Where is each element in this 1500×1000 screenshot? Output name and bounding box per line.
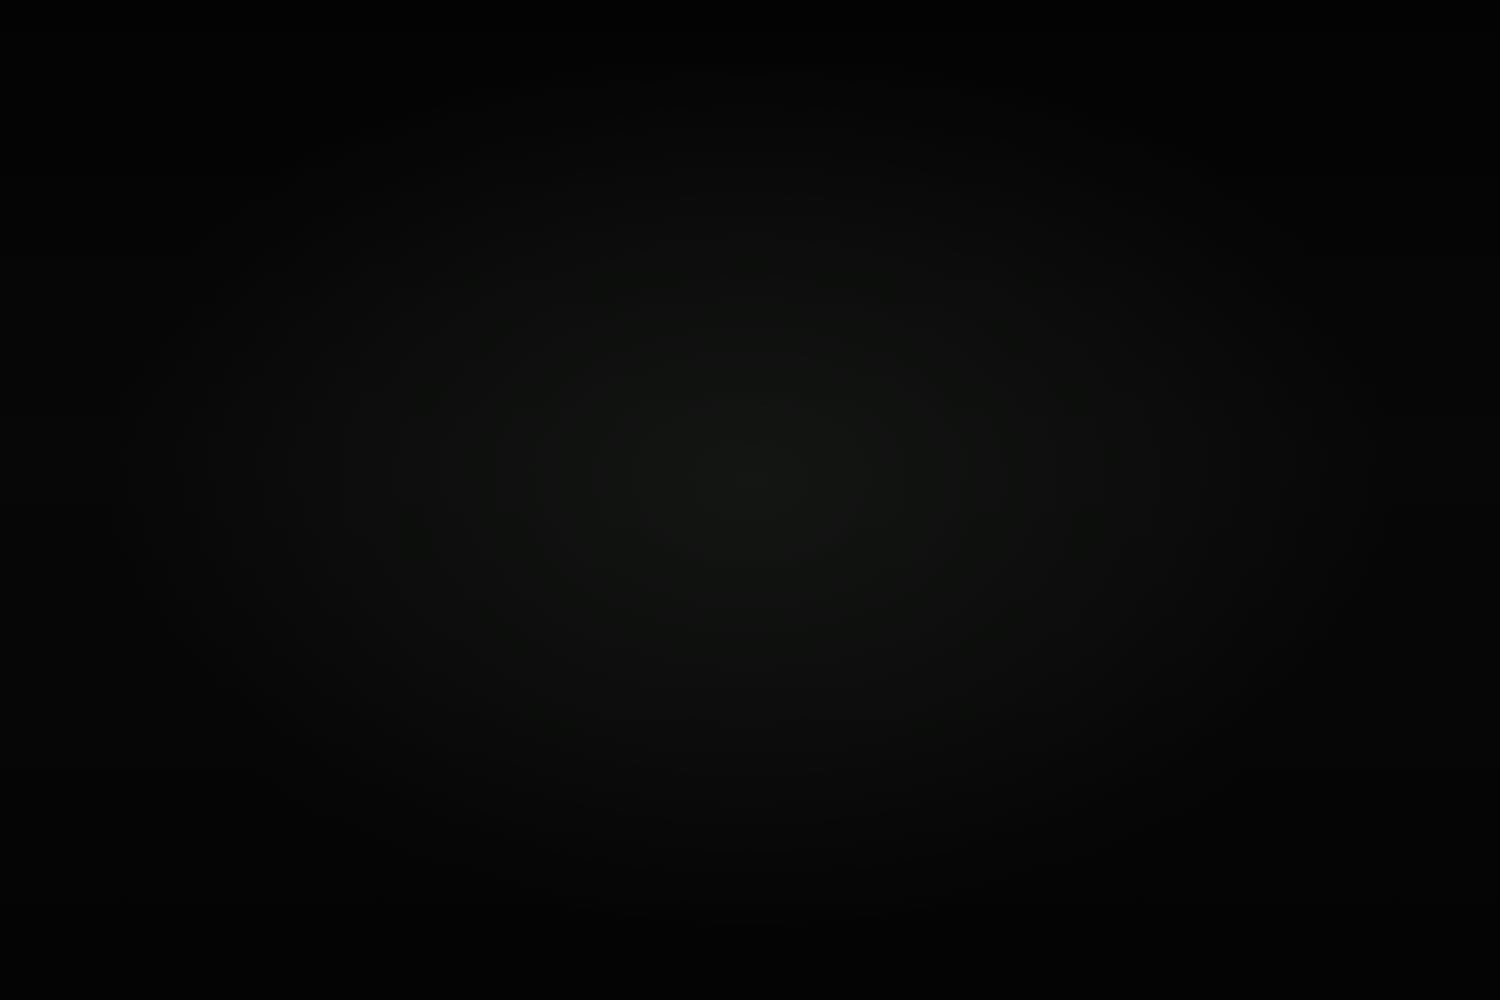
photo-person bbox=[1285, 385, 1320, 460]
right-arrow-icon bbox=[415, 635, 523, 700]
photo-person bbox=[1243, 704, 1290, 805]
photo-person-legs bbox=[1080, 799, 1125, 864]
photo-person bbox=[1132, 699, 1179, 804]
projection-scene: 각 남선교회별 활동현황 3남, 4남선교회 예배참여(격월) 혜정교회 풍성한… bbox=[0, 0, 1500, 1000]
indoor-church-group-photo: WITH US CHURCH bbox=[903, 499, 1398, 906]
outdoor-group-photo bbox=[908, 188, 1398, 505]
row-2-label: 선교사 지원 bbox=[139, 631, 337, 691]
right-arrow-icon bbox=[421, 412, 529, 477]
projected-slide: 각 남선교회별 활동현황 3남, 4남선교회 예배참여(격월) 혜정교회 풍성한… bbox=[114, 64, 1399, 934]
photo-white-table bbox=[903, 825, 987, 838]
photo-person-legs bbox=[1132, 799, 1179, 864]
row-2-target-2: 팔레스타인(강윤태) bbox=[535, 680, 860, 741]
photo-track-lamp bbox=[1131, 527, 1138, 536]
photo-person bbox=[1302, 704, 1349, 805]
slide-footer-line: 제주위더스교회 방문예배(김종우) bbox=[131, 792, 719, 859]
photo-fire-extinguisher bbox=[1371, 793, 1386, 829]
photo-track-lamp bbox=[1210, 526, 1217, 535]
slide-canvas: 각 남선교회별 활동현황 3남, 4남선교회 예배참여(격월) 혜정교회 풍성한… bbox=[114, 64, 1399, 934]
photo-person bbox=[1170, 383, 1212, 465]
row-1-label: 예배참여(격월) bbox=[140, 407, 391, 467]
photo-tree-trunk bbox=[1031, 220, 1042, 345]
photo-person bbox=[1075, 383, 1107, 458]
photo-person-legs bbox=[1189, 800, 1236, 865]
photo-person-legs bbox=[1302, 801, 1349, 866]
row-1-target-1: 혜정교회 bbox=[552, 394, 701, 453]
row-1-target-2: 풍성한교회 bbox=[552, 458, 738, 518]
photo-person bbox=[1189, 703, 1236, 804]
photo-person-legs bbox=[1243, 800, 1290, 865]
photo-person bbox=[1021, 702, 1068, 803]
photo-person-legs bbox=[1021, 798, 1068, 863]
photo-gift-bags bbox=[903, 805, 987, 826]
photo-person bbox=[1080, 702, 1125, 803]
photo-left-brick-wall bbox=[909, 331, 1002, 388]
photo-person bbox=[1124, 358, 1156, 430]
photo-tree-trunk bbox=[1246, 191, 1264, 347]
photo-person bbox=[1246, 387, 1283, 465]
row-2-target-1: 에스와티니(남흥웅) bbox=[535, 616, 860, 677]
photo-wall-frame bbox=[909, 604, 936, 634]
photo-track-lamp bbox=[1052, 529, 1059, 538]
photo-curtain bbox=[933, 540, 1008, 790]
